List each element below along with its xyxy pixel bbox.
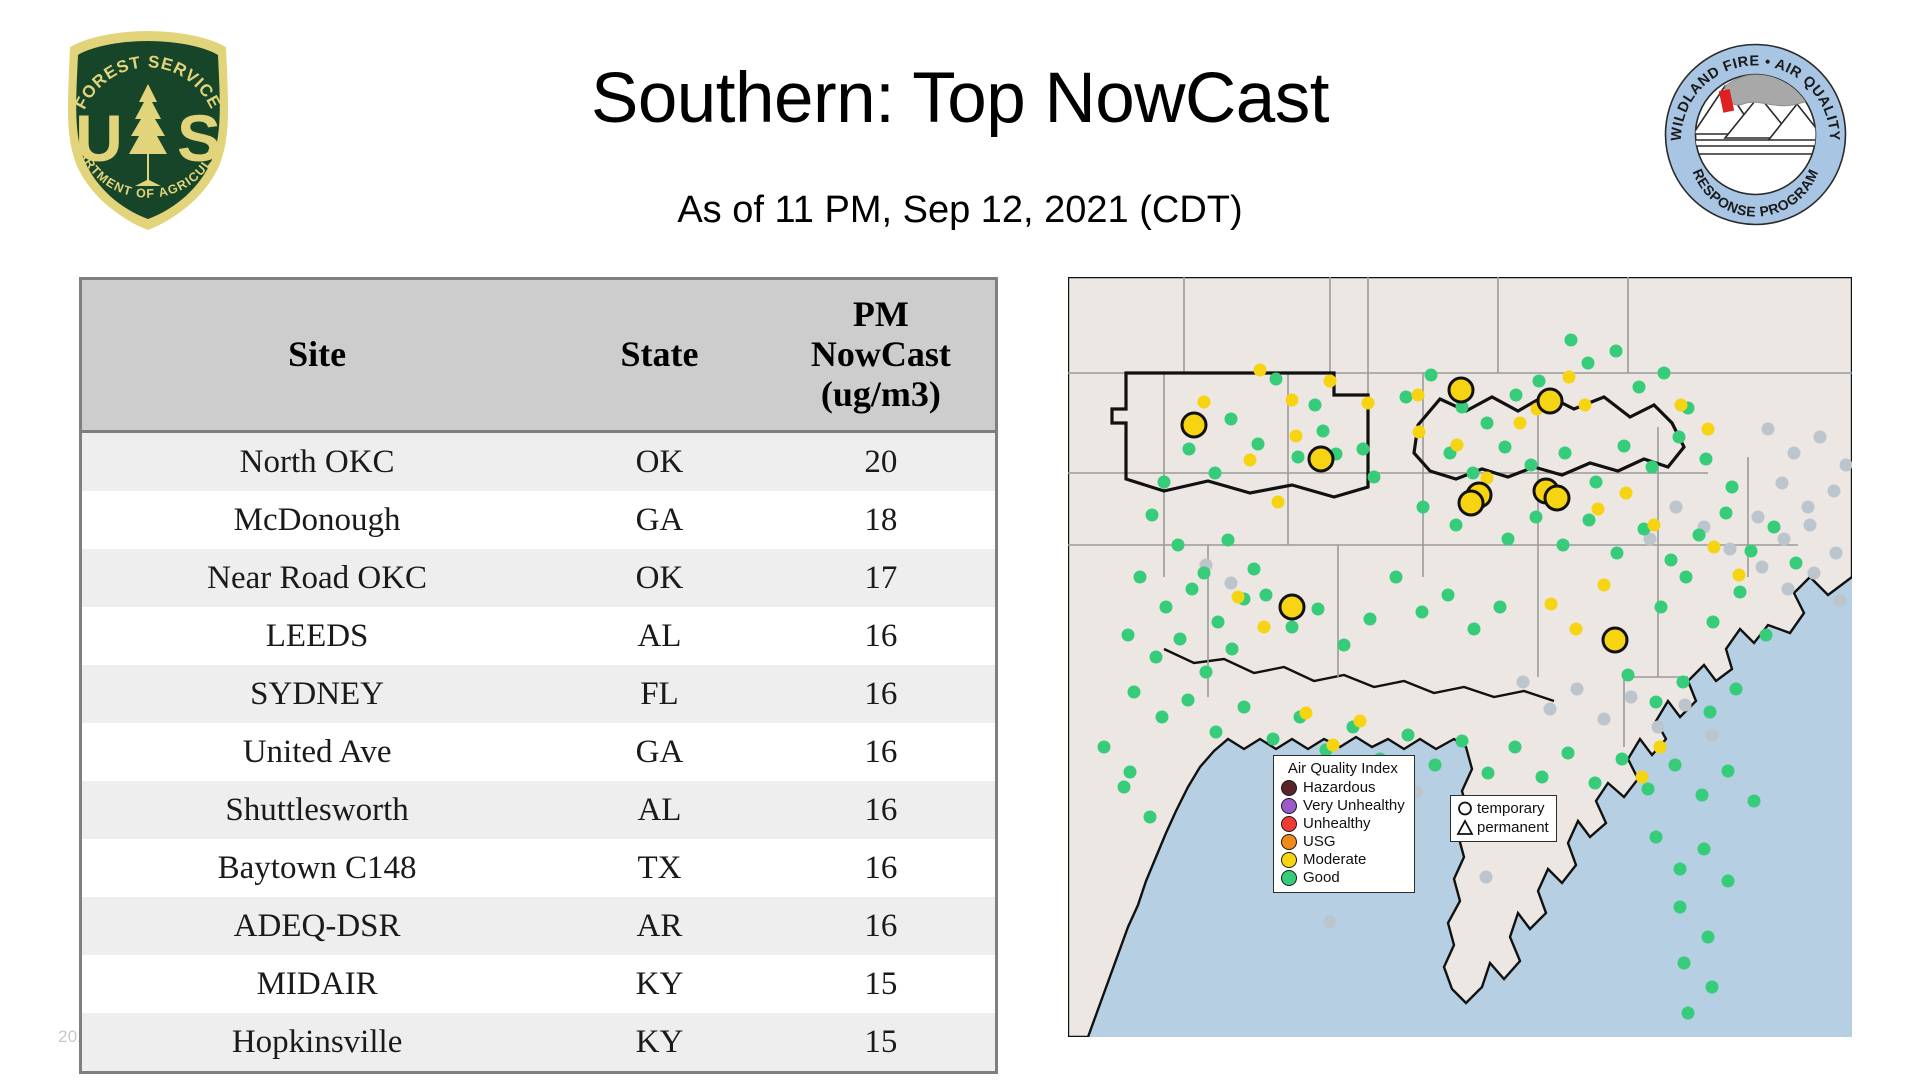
monitor-dot-good (1118, 781, 1131, 794)
monitor-dot-nodata (1830, 547, 1843, 560)
monitor-dot-good (1674, 863, 1687, 876)
monitor-dot-good (1633, 381, 1646, 394)
monitor-dot-moderate (1286, 394, 1299, 407)
monitor-dot-good (1124, 766, 1137, 779)
legend-permanent-label: permanent (1477, 818, 1549, 837)
monitor-dot-good (1172, 539, 1185, 552)
monitor-dot-good (1722, 765, 1735, 778)
monitor-dot-good (1144, 811, 1157, 824)
monitor-dot-good (1292, 451, 1305, 464)
monitor-dot-moderate (1620, 487, 1633, 500)
monitor-dot-good (1270, 373, 1283, 386)
monitor-dot-good (1429, 759, 1442, 772)
monitor-dot-nodata (1808, 567, 1821, 580)
monitor-dot-nodata (1840, 459, 1853, 472)
monitor-dot-good (1677, 676, 1690, 689)
monitor-dot-moderate (1570, 623, 1583, 636)
aqi-legend-label: Good (1303, 869, 1340, 887)
monitor-dot-good (1467, 467, 1480, 480)
svg-text:S: S (177, 101, 221, 175)
monitor-dot-nodata (1802, 501, 1815, 514)
monitor-dot-top-site (1459, 491, 1483, 515)
monitor-dot-good (1559, 447, 1572, 460)
monitor-dot-nodata (1828, 485, 1841, 498)
monitor-dot-moderate (1654, 741, 1667, 754)
monitor-dot-good (1589, 777, 1602, 790)
monitor-dot-good (1312, 603, 1325, 616)
monitor-dot-top-site (1449, 378, 1473, 402)
monitor-dot-good (1790, 557, 1803, 570)
table-row: ShuttlesworthAL16 (82, 781, 995, 839)
table-body: North OKCOK20McDonoughGA18Near Road OKCO… (82, 432, 995, 1072)
svg-text:U: U (75, 101, 123, 175)
state-cell: OK (552, 549, 767, 607)
monitor-dot-top-site (1280, 595, 1304, 619)
state-cell: FL (552, 665, 767, 723)
monitor-dot-good (1210, 726, 1223, 739)
monitor-dot-nodata (1776, 477, 1789, 490)
monitor-dot-good (1186, 583, 1199, 596)
monitor-dot-good (1174, 633, 1187, 646)
aqi-legend-label: Moderate (1303, 851, 1366, 869)
aqi-legend-item: Very Unhealthy (1281, 797, 1405, 815)
aqi-legend-color-swatch (1281, 816, 1297, 832)
monitor-dot-good (1357, 443, 1370, 456)
monitor-dot-good (1655, 601, 1668, 614)
monitor-dot-moderate (1244, 454, 1257, 467)
monitor-dot-good (1209, 467, 1222, 480)
state-cell: AL (552, 781, 767, 839)
monitor-dot-good (1682, 1007, 1695, 1020)
monitor-dot-good (1248, 563, 1261, 576)
monitor-dot-good (1702, 931, 1715, 944)
monitor-dot-good (1696, 789, 1709, 802)
monitor-dot-good (1673, 431, 1686, 444)
monitor-dot-good (1698, 843, 1711, 856)
monitor-dot-good (1700, 453, 1713, 466)
monitor-dot-good (1134, 571, 1147, 584)
aqi-legend-color-swatch (1281, 798, 1297, 814)
monitor-dot-good (1680, 571, 1693, 584)
monitor-dot-good (1222, 534, 1235, 547)
monitor-dot-nodata (1706, 729, 1719, 742)
monitor-dot-good (1669, 759, 1682, 772)
monitor-dot-good (1150, 651, 1163, 664)
monitor-dot-good (1760, 629, 1773, 642)
monitor-dot-nodata (1225, 577, 1238, 590)
monitor-dot-moderate (1563, 371, 1576, 384)
monitor-dot-good (1368, 471, 1381, 484)
page-subtitle: As of 11 PM, Sep 12, 2021 (CDT) (0, 188, 1920, 232)
monitor-dot-good (1225, 413, 1238, 426)
monitor-dot-nodata (1679, 699, 1692, 712)
map-canvas (1068, 277, 1852, 1037)
monitor-dot-good (1707, 616, 1720, 629)
pm-nowcast-cell: 15 (767, 1013, 995, 1071)
legend-permanent-row: permanent (1456, 818, 1549, 837)
aqi-legend-label: Very Unhealthy (1303, 797, 1405, 815)
monitor-dot-good (1494, 601, 1507, 614)
aqi-legend-color-swatch (1281, 870, 1297, 886)
monitor-dot-good (1768, 521, 1781, 534)
table-row: North OKCOK20 (82, 432, 995, 492)
monitor-dot-good (1499, 441, 1512, 454)
monitor-dot-good (1674, 901, 1687, 914)
monitor-dot-nodata (1814, 431, 1827, 444)
site-cell: Hopkinsville (82, 1013, 552, 1071)
monitor-dot-good (1417, 501, 1430, 514)
monitor-dot-good (1618, 440, 1631, 453)
monitor-dot-good (1198, 567, 1211, 580)
monitor-dot-nodata (1778, 533, 1791, 546)
monitor-dot-good (1642, 783, 1655, 796)
site-cell: Baytown C148 (82, 839, 552, 897)
aqi-legend-label: USG (1303, 833, 1336, 851)
aqi-legend-item: USG (1281, 833, 1405, 851)
monitor-dot-good (1525, 459, 1538, 472)
pm-nowcast-cell: 16 (767, 839, 995, 897)
nowcast-table: Site State PM NowCast (ug/m3) North OKCO… (82, 280, 995, 1071)
monitor-dot-good (1650, 696, 1663, 709)
aqi-legend-items: HazardousVery UnhealthyUnhealthyUSGModer… (1281, 779, 1405, 887)
monitor-dot-good (1146, 509, 1159, 522)
column-header-site: Site (82, 280, 552, 432)
table-row: ADEQ-DSRAR16 (82, 897, 995, 955)
monitor-dot-good (1317, 425, 1330, 438)
monitor-dot-good (1616, 753, 1629, 766)
monitor-dot-good (1748, 795, 1761, 808)
aqi-legend-item: Moderate (1281, 851, 1405, 869)
monitor-dot-nodata (1625, 691, 1638, 704)
monitor-dot-moderate (1675, 399, 1688, 412)
site-cell: North OKC (82, 432, 552, 492)
site-cell: McDonough (82, 491, 552, 549)
monitor-dot-moderate (1702, 423, 1715, 436)
state-cell: TX (552, 839, 767, 897)
monitor-dot-moderate (1648, 519, 1661, 532)
nowcast-table-container: Site State PM NowCast (ug/m3) North OKCO… (79, 277, 998, 1074)
pm-nowcast-cell: 17 (767, 549, 995, 607)
monitor-dot-good (1557, 539, 1570, 552)
monitor-dot-good (1726, 481, 1739, 494)
pm-nowcast-cell: 16 (767, 723, 995, 781)
monitor-dot-good (1182, 694, 1195, 707)
monitor-dot-moderate (1354, 715, 1367, 728)
monitor-dot-good (1226, 643, 1239, 656)
monitor-dot-nodata (1752, 511, 1765, 524)
pm-nowcast-line-3: (ug/m3) (771, 374, 991, 414)
monitor-dot-good (1442, 589, 1455, 602)
table-row: United AveGA16 (82, 723, 995, 781)
monitor-dot-top-site (1538, 389, 1562, 413)
monitor-dot-good (1160, 601, 1173, 614)
aqi-legend-color-swatch (1281, 852, 1297, 868)
state-cell: GA (552, 723, 767, 781)
monitor-dot-moderate (1327, 739, 1340, 752)
monitor-dot-good (1482, 767, 1495, 780)
aqi-legend-item: Hazardous (1281, 779, 1405, 797)
monitor-dot-good (1562, 747, 1575, 760)
page-title: Southern: Top NowCast (0, 60, 1920, 138)
wildland-fire-air-quality-logo: WILDLAND FIRE • AIR QUALITY RESPONSE PRO… (1663, 42, 1848, 227)
monitor-dot-good (1693, 529, 1706, 542)
pm-nowcast-cell: 20 (767, 432, 995, 492)
aqi-legend-item: Good (1281, 869, 1405, 887)
monitor-dot-good (1468, 623, 1481, 636)
monitor-dot-good (1128, 686, 1141, 699)
monitor-dot-good (1734, 586, 1747, 599)
monitor-dot-moderate (1579, 399, 1592, 412)
legend-temporary-row: temporary (1456, 799, 1549, 818)
pm-nowcast-line-2: NowCast (771, 334, 991, 374)
monitor-dot-top-site (1545, 486, 1569, 510)
monitor-dot-nodata (1756, 561, 1769, 574)
state-cell: KY (552, 955, 767, 1013)
state-cell: OK (552, 432, 767, 492)
monitor-dot-good (1704, 706, 1717, 719)
monitor-dot-good (1665, 554, 1678, 567)
monitor-dot-good (1510, 389, 1523, 402)
monitor-dot-good (1722, 875, 1735, 888)
monitor-dot-good (1364, 613, 1377, 626)
monitor-dot-good (1481, 417, 1494, 430)
monitor-dot-top-site (1603, 628, 1627, 652)
monitor-dot-nodata (1804, 519, 1817, 532)
monitor-dot-good (1338, 639, 1351, 652)
aqi-legend-item: Unhealthy (1281, 815, 1405, 833)
monitor-dot-good (1582, 357, 1595, 370)
state-cell: AL (552, 607, 767, 665)
monitor-dot-moderate (1290, 430, 1303, 443)
monitor-dot-good (1416, 606, 1429, 619)
pm-nowcast-cell: 16 (767, 607, 995, 665)
monitor-dot-nodata (1480, 871, 1493, 884)
monitor-dot-good (1450, 519, 1463, 532)
monitor-dot-moderate (1708, 541, 1721, 554)
monitor-dot-nodata (1324, 916, 1337, 929)
temporary-circle-icon (1456, 800, 1474, 817)
monitor-dot-good (1122, 629, 1135, 642)
monitor-dot-top-site (1309, 447, 1333, 471)
monitor-dot-good (1156, 711, 1169, 724)
monitor-dot-good (1611, 547, 1624, 560)
monitor-dot-moderate (1412, 389, 1425, 402)
column-header-pm-nowcast: PM NowCast (ug/m3) (767, 280, 995, 432)
state-cell: GA (552, 491, 767, 549)
monitor-dot-moderate (1598, 579, 1611, 592)
monitor-dot-nodata (1571, 683, 1584, 696)
monitor-dot-good (1745, 545, 1758, 558)
legend-temporary-label: temporary (1477, 799, 1545, 818)
monitor-dot-good (1200, 666, 1213, 679)
monitor-dot-top-site (1182, 413, 1206, 437)
monitor-dot-good (1158, 476, 1171, 489)
monitor-dot-good (1212, 616, 1225, 629)
monitor-dot-good (1622, 669, 1635, 682)
table-header-row: Site State PM NowCast (ug/m3) (82, 280, 995, 432)
monitor-dot-moderate (1232, 591, 1245, 604)
pm-nowcast-cell: 16 (767, 897, 995, 955)
monitor-dot-moderate (1272, 496, 1285, 509)
monitor-dot-good (1252, 438, 1265, 451)
pm-nowcast-cell: 16 (767, 665, 995, 723)
table-row: HopkinsvilleKY15 (82, 1013, 995, 1071)
site-cell: United Ave (82, 723, 552, 781)
monitor-dot-moderate (1514, 417, 1527, 430)
monitor-dot-good (1238, 701, 1251, 714)
column-header-state: State (552, 280, 767, 432)
table-row: McDonoughGA18 (82, 491, 995, 549)
monitor-dot-moderate (1254, 364, 1267, 377)
monitor-dot-nodata (1652, 721, 1665, 734)
monitor-dot-moderate (1324, 375, 1337, 388)
pm-nowcast-cell: 16 (767, 781, 995, 839)
monitor-dot-good (1267, 733, 1280, 746)
monitor-dot-good (1390, 571, 1403, 584)
monitor-dot-moderate (1592, 503, 1605, 516)
aqi-legend: Air Quality Index HazardousVery Unhealth… (1273, 755, 1415, 893)
aqi-legend-title: Air Quality Index (1281, 760, 1405, 777)
monitor-dot-good (1583, 514, 1596, 527)
monitor-dot-good (1098, 741, 1111, 754)
table-row: SYDNEYFL16 (82, 665, 995, 723)
monitor-dot-moderate (1545, 598, 1558, 611)
aqi-legend-color-swatch (1281, 780, 1297, 796)
us-forest-service-logo: FOREST SERVICE DEPARTMENT OF AGRICULTURE… (53, 28, 243, 233)
table-row: MIDAIRKY15 (82, 955, 995, 1013)
state-cell: AR (552, 897, 767, 955)
table-row: Near Road OKCOK17 (82, 549, 995, 607)
monitor-dot-nodata (1724, 543, 1737, 556)
monitor-type-legend: temporary permanent (1450, 795, 1557, 842)
monitor-dot-moderate (1733, 569, 1746, 582)
monitor-dot-nodata (1834, 595, 1847, 608)
monitor-dot-good (1260, 589, 1273, 602)
monitor-dot-good (1658, 367, 1671, 380)
aqi-legend-color-swatch (1281, 834, 1297, 850)
table-row: LEEDSAL16 (82, 607, 995, 665)
monitor-dot-good (1678, 957, 1691, 970)
monitor-dot-moderate (1413, 426, 1426, 439)
monitor-dot-nodata (1762, 423, 1775, 436)
state-cell: KY (552, 1013, 767, 1071)
monitor-dot-good (1610, 345, 1623, 358)
aqi-legend-label: Unhealthy (1303, 815, 1371, 833)
monitor-dot-good (1183, 443, 1196, 456)
monitor-dot-good (1590, 476, 1603, 489)
table-row: Baytown C148TX16 (82, 839, 995, 897)
monitor-dot-good (1402, 729, 1415, 742)
monitor-dot-nodata (1598, 713, 1611, 726)
monitor-dot-nodata (1782, 583, 1795, 596)
monitor-dot-good (1730, 683, 1743, 696)
permanent-triangle-icon (1456, 819, 1474, 836)
monitor-dot-good (1400, 391, 1413, 404)
pm-nowcast-cell: 15 (767, 955, 995, 1013)
monitor-dot-nodata (1788, 447, 1801, 460)
monitor-dot-good (1286, 621, 1299, 634)
monitor-dot-good (1646, 461, 1659, 474)
aqi-legend-label: Hazardous (1303, 779, 1376, 797)
monitor-dot-nodata (1670, 501, 1683, 514)
monitor-dot-moderate (1451, 439, 1464, 452)
monitor-dot-good (1650, 831, 1663, 844)
monitor-dot-good (1502, 533, 1515, 546)
site-cell: LEEDS (82, 607, 552, 665)
monitor-dot-moderate (1636, 771, 1649, 784)
monitor-dot-nodata (1544, 703, 1557, 716)
monitor-dot-good (1425, 369, 1438, 382)
site-cell: Near Road OKC (82, 549, 552, 607)
site-cell: ADEQ-DSR (82, 897, 552, 955)
monitor-dot-good (1509, 741, 1522, 754)
monitor-dot-good (1536, 771, 1549, 784)
monitor-dot-moderate (1198, 396, 1211, 409)
site-cell: SYDNEY (82, 665, 552, 723)
site-cell: MIDAIR (82, 955, 552, 1013)
pm-nowcast-line-1: PM (771, 294, 991, 334)
monitor-dot-good (1530, 511, 1543, 524)
monitor-dot-nodata (1517, 676, 1530, 689)
monitor-dot-good (1565, 334, 1578, 347)
pm-nowcast-cell: 18 (767, 491, 995, 549)
monitor-dot-moderate (1258, 621, 1271, 634)
monitor-dot-good (1720, 507, 1733, 520)
monitor-dot-good (1456, 735, 1469, 748)
monitor-dot-moderate (1362, 397, 1375, 410)
monitor-dot-good (1706, 981, 1719, 994)
site-cell: Shuttlesworth (82, 781, 552, 839)
monitor-dot-good (1309, 399, 1322, 412)
monitor-dot-good (1533, 375, 1546, 388)
air-quality-map[interactable]: Air Quality Index HazardousVery Unhealth… (1068, 277, 1852, 1037)
monitor-dot-moderate (1300, 707, 1313, 720)
